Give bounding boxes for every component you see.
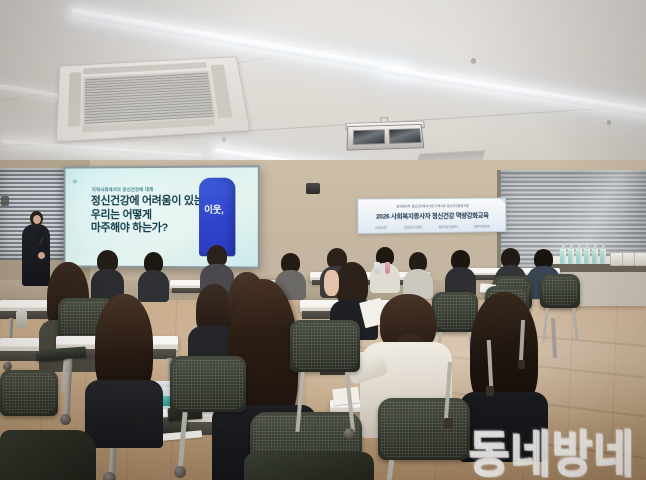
desk-caster — [103, 472, 116, 480]
chair-foot — [444, 418, 453, 429]
drink-cup — [16, 311, 27, 328]
chair-backrest — [244, 452, 374, 480]
wall-speaker — [306, 183, 320, 194]
attendee-torso — [138, 270, 169, 302]
banner-logo: 정신건강복지센터 — [439, 225, 458, 229]
projector-lens — [389, 128, 422, 144]
water-bottle — [568, 248, 574, 264]
water-bottle — [600, 248, 606, 264]
chair-foot — [486, 386, 494, 396]
water-bottle — [592, 248, 598, 264]
sprinkler-head — [607, 120, 611, 124]
slide-logo-icon: ◈ — [72, 177, 81, 186]
banner-logo: 보건복지부 — [375, 226, 387, 230]
presenter-hand — [38, 252, 45, 259]
chair-caster — [344, 428, 355, 439]
chair-backrest — [290, 320, 360, 372]
wall-speaker — [1, 196, 9, 206]
ceiling-projector — [342, 121, 428, 155]
projection-screen: ◈ 지역사회에서의 정신건강에 대해 정신건강에 어려움이 있는 우리는 어떻게… — [64, 165, 260, 268]
attendee-hand — [324, 270, 339, 296]
slide-subtitle: 지역사회에서의 정신건강에 대해 — [92, 187, 153, 193]
water-bottle — [560, 248, 566, 264]
banner-logo: 국립정신건강센터 — [404, 225, 423, 229]
air-conditioner-cassette — [56, 56, 251, 142]
ac-grille — [82, 70, 216, 126]
slide-highlight-word: 이웃, — [204, 202, 223, 216]
chair-backrest — [0, 370, 58, 416]
projector-lens — [353, 129, 385, 145]
attendee-torso — [85, 380, 163, 448]
photo-scene: ◈ 지역사회에서의 정신건강에 대해 정신건강에 어려움이 있는 우리는 어떻게… — [0, 0, 646, 480]
sprinkler-head — [471, 58, 476, 63]
presenter-face — [33, 215, 41, 224]
chair-backrest — [378, 398, 470, 460]
chair-backrest — [0, 430, 96, 480]
projected-slide: ◈ 지역사회에서의 정신건강에 대해 정신건강에 어려움이 있는 우리는 어떻게… — [66, 167, 258, 266]
chair-backrest — [540, 274, 580, 308]
wall-banner: 보건복지부 정신건강복지사업 지역사회 정신건강증진사업 2026 사회복지종사… — [357, 197, 506, 234]
ac-side-vent — [68, 72, 81, 127]
water-bottle — [584, 248, 590, 264]
sprinkler-head — [222, 137, 226, 141]
desk-caster — [60, 414, 71, 425]
chair-backrest — [170, 356, 246, 412]
pink-tumbler — [385, 262, 390, 274]
drink-cup — [374, 262, 380, 274]
chair-foot — [518, 360, 525, 369]
banner-title: 2026 사회복지종사자 정신건강 역량강화교육 — [358, 210, 505, 221]
attendee-torso — [460, 392, 548, 462]
banner-logo: 사회복지협의회 — [474, 224, 490, 228]
cup-stack — [634, 252, 646, 266]
chair-backrest — [432, 292, 478, 332]
water-bottle — [576, 248, 582, 264]
chair-caster — [174, 466, 186, 478]
